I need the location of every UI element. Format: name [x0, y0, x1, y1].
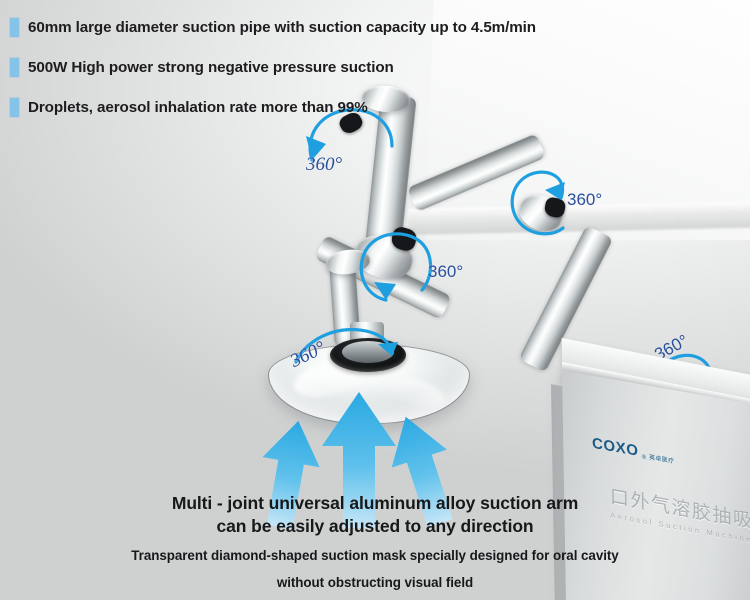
feature-text: 500W High power strong negative pressure…	[28, 59, 394, 76]
caption-main-line-1: Multi - joint universal aluminum alloy s…	[0, 492, 750, 515]
feature-item: Droplets, aerosol inhalation rate more t…	[0, 88, 750, 126]
product-image-stage: 360° 360° 360° 360° 360°	[0, 0, 750, 600]
bullet-square-icon	[10, 98, 19, 117]
caption-main-line-2: can be easily adjusted to any direction	[0, 515, 750, 538]
rotation-label-mid-elbow: 360°	[428, 262, 463, 282]
feature-item: 500W High power strong negative pressure…	[0, 48, 750, 86]
rotation-marker-right-arm: 360°	[505, 168, 591, 246]
caption-sub-line-1: Transparent diamond-shaped suction mask …	[0, 547, 750, 565]
feature-text: Droplets, aerosol inhalation rate more t…	[28, 99, 368, 116]
brand-registered-mark: ®	[642, 455, 647, 462]
feature-text: 60mm large diameter suction pipe with su…	[28, 19, 536, 36]
rotation-marker-mid-elbow: 360°	[352, 226, 438, 306]
bullet-square-icon	[10, 18, 19, 37]
caption-sub-line-2: without obstructing visual field	[0, 574, 750, 592]
feature-item: 60mm large diameter suction pipe with su…	[0, 8, 750, 46]
bullet-square-icon	[10, 58, 19, 77]
rotation-marker-mask-swivel: 360°	[286, 318, 396, 374]
rotation-label-upper-arm: 360°	[306, 154, 342, 176]
rotation-label-right-arm: 360°	[567, 190, 602, 210]
caption-block: Multi - joint universal aluminum alloy s…	[0, 492, 750, 592]
feature-list: 60mm large diameter suction pipe with su…	[0, 0, 750, 126]
